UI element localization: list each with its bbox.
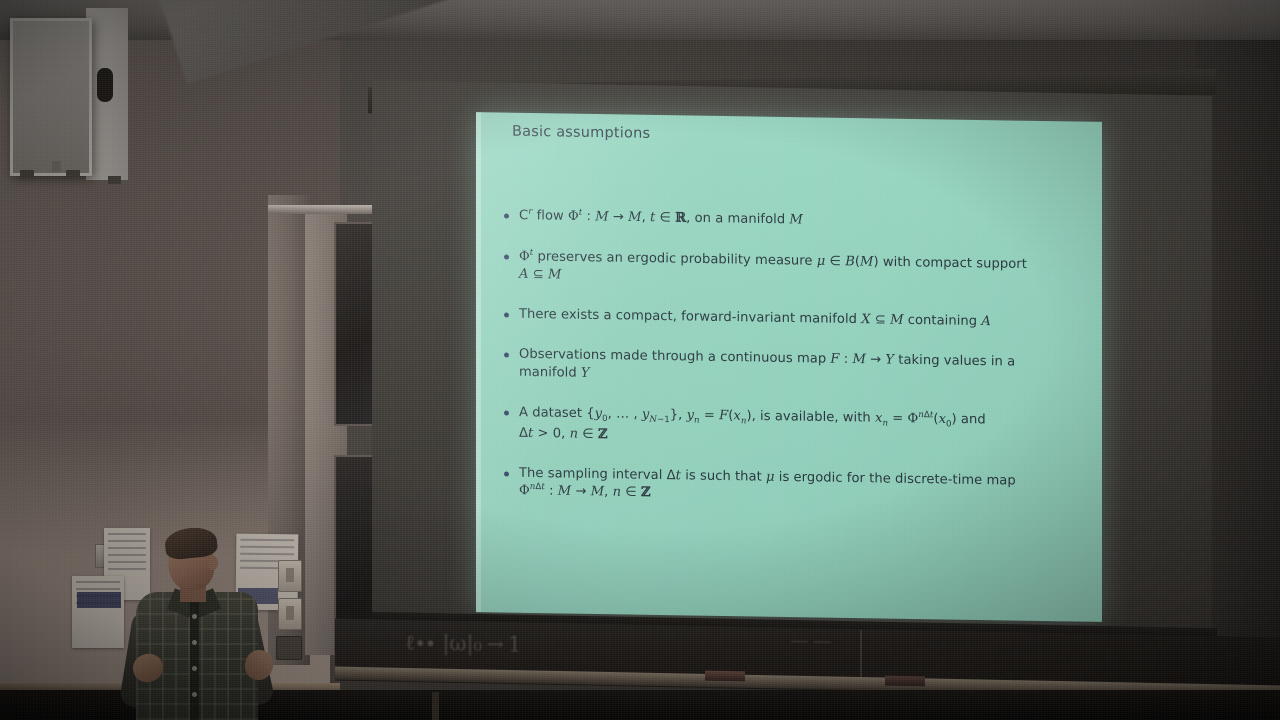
loudspeaker-port	[97, 68, 113, 102]
wall-outlet[interactable]	[276, 636, 302, 660]
slide-left-edge	[476, 112, 481, 612]
bullet-text: Φt preserves an ergodic probability meas…	[519, 248, 1027, 291]
lecture-hall-photo: Basic assumptions Cr flow Φt : M → M, t …	[0, 0, 1280, 720]
projected-slide: Basic assumptions Cr flow Φt : M → M, t …	[476, 112, 1102, 622]
shirt-button	[192, 640, 197, 645]
bullet-dataset: A dataset {y0, … , yN−1}, yn = F(xn), is…	[504, 404, 1076, 451]
bullet-forward-invariant-manifold: There exists a compact, forward-invarian…	[504, 305, 1076, 331]
slide-bullet-list: Cr flow Φt : M → M, t ∈ ℝ, on a manifold…	[504, 207, 1076, 532]
loudspeaker-icon	[10, 18, 92, 176]
shirt-button	[192, 692, 197, 697]
bullet-marker-icon	[504, 353, 509, 358]
loudspeaker-bracket-left	[20, 170, 34, 178]
slide-title: Basic assumptions	[512, 124, 650, 142]
door-glass-pane-upper	[334, 222, 374, 426]
bullet-text: Observations made through a continuous m…	[519, 346, 1015, 389]
bullet-observation-map: Observations made through a continuous m…	[504, 346, 1076, 390]
bullet-flow: Cr flow Φt : M → M, t ∈ ℝ, on a manifold…	[504, 207, 1076, 234]
bullet-text: Cr flow Φt : M → M, t ∈ ℝ, on a manifold…	[519, 207, 803, 229]
presenter-ear	[208, 556, 218, 570]
light-switch[interactable]	[278, 560, 302, 592]
light-switch[interactable]	[278, 598, 302, 630]
bullet-sampling-interval: The sampling interval Δt is such that μ …	[504, 465, 1076, 509]
door-lintel	[268, 205, 378, 214]
shirt-button	[192, 614, 197, 619]
loudspeaker-badge	[52, 161, 61, 172]
eraser	[885, 676, 925, 687]
wall-notice	[72, 576, 124, 648]
bullet-marker-icon	[504, 254, 509, 259]
bullet-text: The sampling interval Δt is such that μ …	[519, 465, 1016, 508]
chalk-writing-secondary: — —	[790, 630, 832, 653]
loudspeaker-bracket-right	[66, 170, 80, 178]
eraser	[705, 671, 745, 682]
bullet-text: A dataset {y0, … , yN−1}, yn = F(xn), is…	[519, 404, 986, 449]
bullet-marker-icon	[504, 472, 509, 477]
loudspeaker-bracket-back	[108, 176, 121, 184]
bullet-invariant-measure: Φt preserves an ergodic probability meas…	[504, 247, 1076, 291]
bullet-marker-icon	[504, 312, 509, 317]
bullet-text: There exists a compact, forward-invarian…	[519, 306, 991, 331]
bullet-marker-icon	[504, 411, 509, 416]
wall-sign	[77, 592, 121, 608]
shirt-button	[192, 666, 197, 671]
bullet-marker-icon	[504, 214, 509, 219]
desk-leg	[432, 692, 439, 720]
